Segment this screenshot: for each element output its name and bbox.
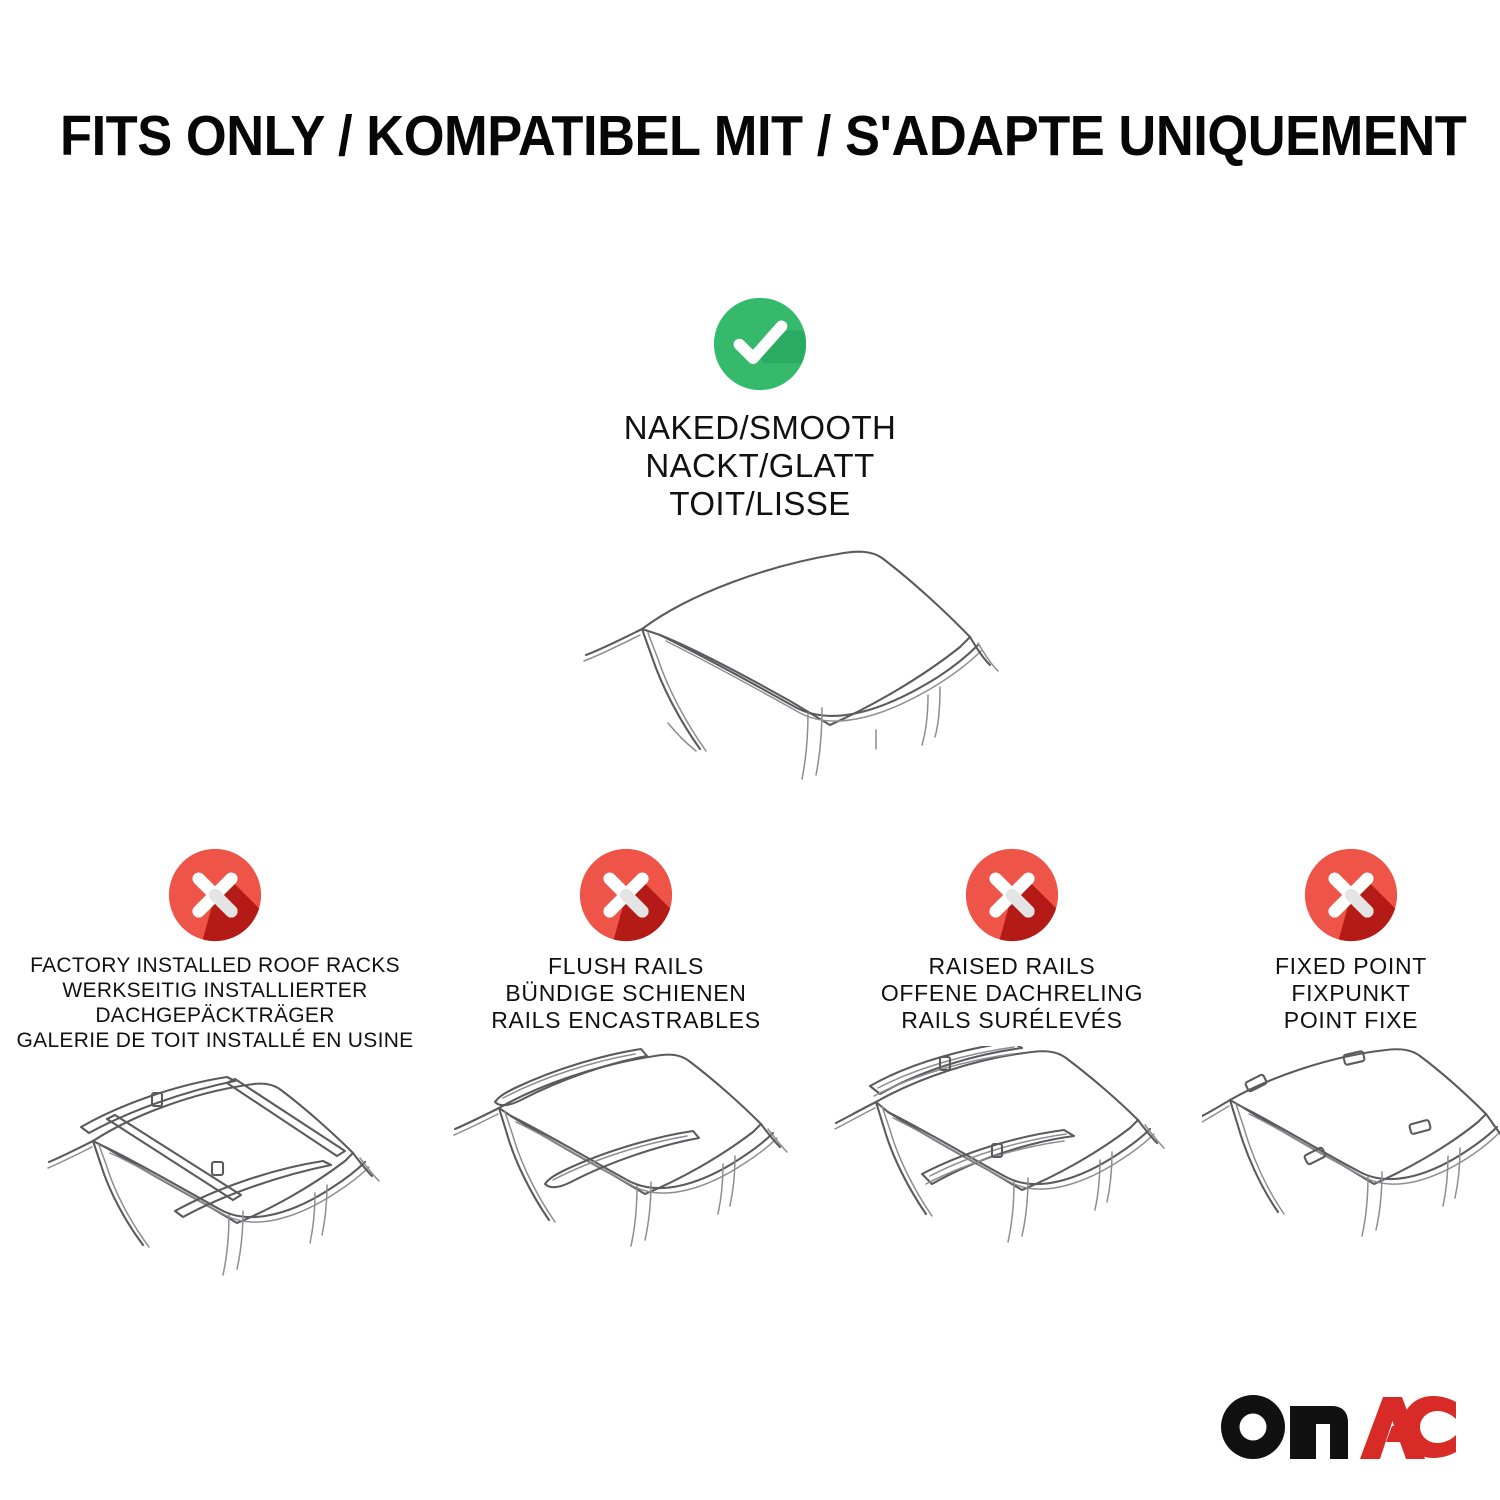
compatible-roof-label: NAKED/SMOOTH NACKT/GLATT TOIT/LISSE bbox=[490, 409, 1030, 523]
cross-circle-icon bbox=[167, 847, 263, 943]
roof-type-label: FIXED POINT FIXPUNKT POINT FIXE bbox=[1202, 953, 1500, 1034]
roof-type-label: RAISED RAILS OFFENE DACHRELING RAILS SUR… bbox=[822, 953, 1202, 1034]
roof-type-label: FLUSH RAILS BÜNDIGE SCHIENEN RAILS ENCAS… bbox=[430, 953, 822, 1034]
cross-circle-icon bbox=[964, 847, 1060, 943]
label-line-1: FACTORY INSTALLED ROOF RACKS bbox=[0, 953, 430, 978]
label-line-1: RAISED RAILS bbox=[822, 953, 1202, 980]
label-line-4: GALERIE DE TOIT INSTALLÉ EN USINE bbox=[0, 1028, 430, 1053]
incompatible-item-factory-installed-roof-racks: FACTORY INSTALLED ROOF RACKS WERKSEITIG … bbox=[0, 840, 430, 1295]
label-line-1: FIXED POINT bbox=[1202, 953, 1500, 980]
label-line-2: BÜNDIGE SCHIENEN bbox=[430, 980, 822, 1007]
car-roof-naked-smooth-illustration bbox=[490, 537, 1030, 807]
label-line-3: POINT FIXE bbox=[1202, 1007, 1500, 1034]
label-line-fr: TOIT/LISSE bbox=[490, 485, 1030, 523]
logo-letter-m bbox=[1290, 1406, 1348, 1459]
label-line-2: WERKSEITIG INSTALLIERTER bbox=[0, 978, 430, 1003]
compatible-roof-type: NAKED/SMOOTH NACKT/GLATT TOIT/LISSE bbox=[490, 296, 1030, 807]
cross-circle-icon bbox=[1303, 847, 1399, 943]
roof-type-label: FACTORY INSTALLED ROOF RACKS WERKSEITIG … bbox=[0, 953, 430, 1053]
incompatible-roof-types: FACTORY INSTALLED ROOF RACKS WERKSEITIG … bbox=[0, 840, 1500, 1310]
label-line-de: NACKT/GLATT bbox=[490, 447, 1030, 485]
label-line-en: NAKED/SMOOTH bbox=[490, 409, 1030, 447]
car-roof-flush-rails-illustration bbox=[437, 1046, 815, 1276]
label-line-2: FIXPUNKT bbox=[1202, 980, 1500, 1007]
incompatible-item-flush-rails: FLUSH RAILS BÜNDIGE SCHIENEN RAILS ENCAS… bbox=[430, 840, 822, 1276]
label-line-2: OFFENE DACHRELING bbox=[822, 980, 1202, 1007]
logo-letter-o bbox=[1221, 1395, 1285, 1459]
check-circle-icon bbox=[712, 296, 808, 392]
cross-circle-icon bbox=[578, 847, 674, 943]
incompatible-item-raised-rails: RAISED RAILS OFFENE DACHRELING RAILS SUR… bbox=[822, 840, 1202, 1276]
car-roof-factory-rack-illustration bbox=[15, 1065, 415, 1295]
label-line-3: RAILS SURÉLEVÉS bbox=[822, 1007, 1202, 1034]
omac-logo bbox=[1220, 1392, 1456, 1462]
incompatible-item-fixed-point: FIXED POINT FIXPUNKT POINT FIXE bbox=[1202, 840, 1500, 1276]
car-roof-fixed-point-illustration bbox=[1202, 1046, 1500, 1276]
label-line-3: RAILS ENCASTRABLES bbox=[430, 1007, 822, 1034]
label-line-1: FLUSH RAILS bbox=[430, 953, 822, 980]
page-title: FITS ONLY / KOMPATIBEL MIT / S'ADAPTE UN… bbox=[60, 104, 1440, 168]
label-line-3: DACHGEPÄCKTRÄGER bbox=[0, 1003, 430, 1028]
car-roof-raised-rails-illustration bbox=[826, 1046, 1198, 1276]
